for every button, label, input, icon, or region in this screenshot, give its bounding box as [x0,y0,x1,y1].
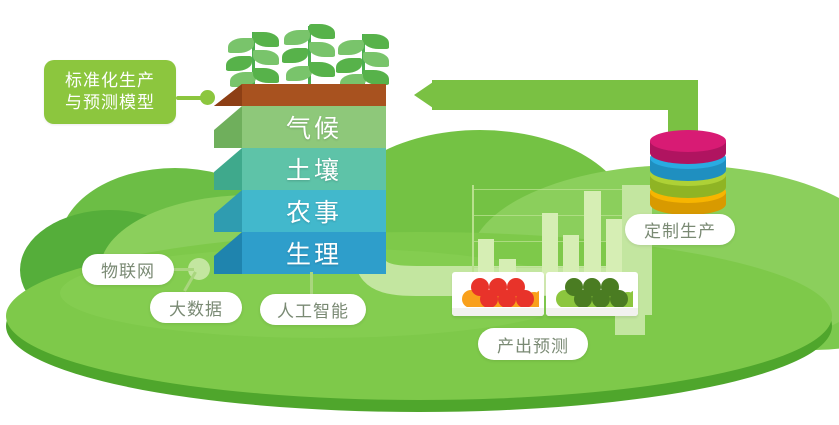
produce-row [565,278,619,296]
crate-rim [546,308,638,316]
database-stack-icon [650,130,726,206]
model-label-line2: 与预测模型 [65,92,155,114]
stack-layer-side [214,232,242,274]
plant-leaf [363,70,389,85]
pill-ai-label: 人工智能 [277,297,349,322]
pill-custom-label: 定制生产 [644,217,716,242]
stack-layer-label: 气候 [286,109,342,145]
stack-layer-label: 生理 [286,235,342,271]
pill-big-data-label: 大数据 [169,295,223,320]
plant-leaf [336,58,362,73]
plant-leaf [253,32,279,47]
pill-output-forecast[interactable]: 产出预测 [478,328,588,360]
crate-contents [551,276,633,307]
plant-leaf [226,56,252,71]
left-arrow-icon [432,80,698,110]
plant-leaf [338,40,364,55]
plant-leaf [284,30,310,45]
pill-iot-label: 物联网 [101,257,155,282]
model-label-box[interactable]: 标准化生产 与预测模型 [44,60,176,124]
crate-contents [457,276,539,307]
produce-item [583,278,601,296]
plant-leaf [363,52,389,67]
stack-layer-4[interactable]: 生理 [242,232,386,274]
connector-dot-icon [200,90,215,105]
stack-layer-label: 土壤 [286,151,342,187]
left-arrow-icon [414,80,436,110]
stack-layer-side [214,148,242,190]
stack-layer-side [214,106,242,148]
connector-line [310,272,313,296]
magenta-disc[interactable] [650,130,726,152]
pill-custom-production[interactable]: 定制生产 [625,214,735,245]
produce-item [489,278,507,296]
soil-front-face [242,84,386,106]
layer-stack: 气候土壤农事生理 [214,84,386,276]
pill-big-data[interactable]: 大数据 [150,292,242,323]
produce-item [601,278,619,296]
model-label-line1: 标准化生产 [65,70,155,92]
stack-layer-3[interactable]: 农事 [242,190,386,232]
stack-layer-1[interactable]: 气候 [242,106,386,148]
infographic-scene: 标准化生产 与预测模型 [0,0,839,425]
produce-item [507,278,525,296]
produce-item [565,278,583,296]
produce-item [534,290,539,307]
stack-layer-side [214,190,242,232]
pill-artificial-intelligence[interactable]: 人工智能 [260,294,366,325]
tomato-crate-icon [452,272,544,316]
stack-layer-2[interactable]: 土壤 [242,148,386,190]
plant-leaf [228,38,254,53]
pill-output-label: 产出预测 [497,332,569,357]
plant-leaf [253,68,279,83]
produce-item [471,278,489,296]
vegetable-crate-icon [546,272,638,316]
plant-leaf [363,34,389,49]
crate-rim [452,308,544,316]
produce-row [471,278,525,296]
plant-leaf [282,48,308,63]
produce-item [628,290,633,307]
stack-layer-label: 农事 [286,193,342,229]
pill-iot[interactable]: 物联网 [82,254,174,285]
connector-line [172,268,194,271]
plant-leaf [253,50,279,65]
